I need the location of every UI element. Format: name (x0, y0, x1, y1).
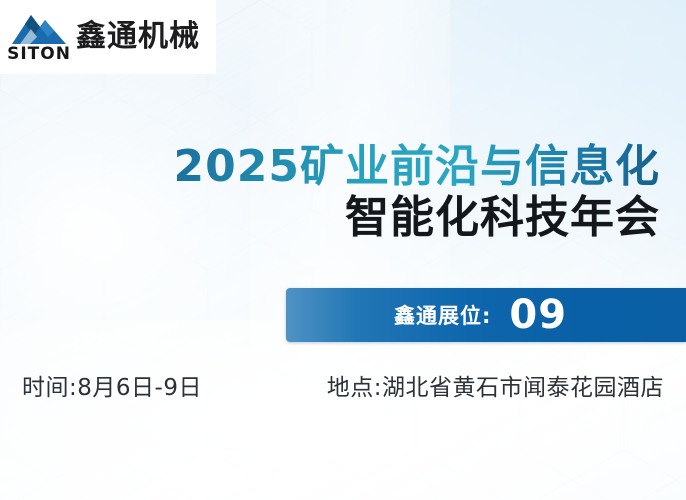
event-details: 时间:8月6日-9日 地点:湖北省黄石市闻泰花园酒店 (0, 368, 686, 402)
siton-mountain-icon: SITON (8, 11, 70, 63)
booth-label: 鑫通展位: (394, 300, 491, 330)
event-poster: SITON 鑫通机械 2025矿业前沿与信息化 智能化科技年会 鑫通展位: 09… (0, 0, 686, 500)
headline-line-1: 2025矿业前沿与信息化 (20, 142, 660, 191)
booth-number-banner: 鑫通展位: 09 (286, 288, 686, 342)
company-logo: SITON 鑫通机械 (0, 0, 216, 74)
poster-headline: 2025矿业前沿与信息化 智能化科技年会 (20, 142, 660, 244)
headline-line-2: 智能化科技年会 (20, 193, 660, 244)
event-location: 地点:湖北省黄石市闻泰花园酒店 (327, 368, 664, 402)
logo-wordmark-chinese: 鑫通机械 (76, 22, 200, 52)
event-time: 时间:8月6日-9日 (22, 368, 202, 402)
background-light-sheen (250, 0, 450, 500)
logo-wordmark-english: SITON (7, 46, 71, 63)
hexagon-pattern-background (0, 0, 686, 500)
booth-number: 09 (509, 295, 567, 335)
background-glow-bottom (0, 320, 686, 500)
